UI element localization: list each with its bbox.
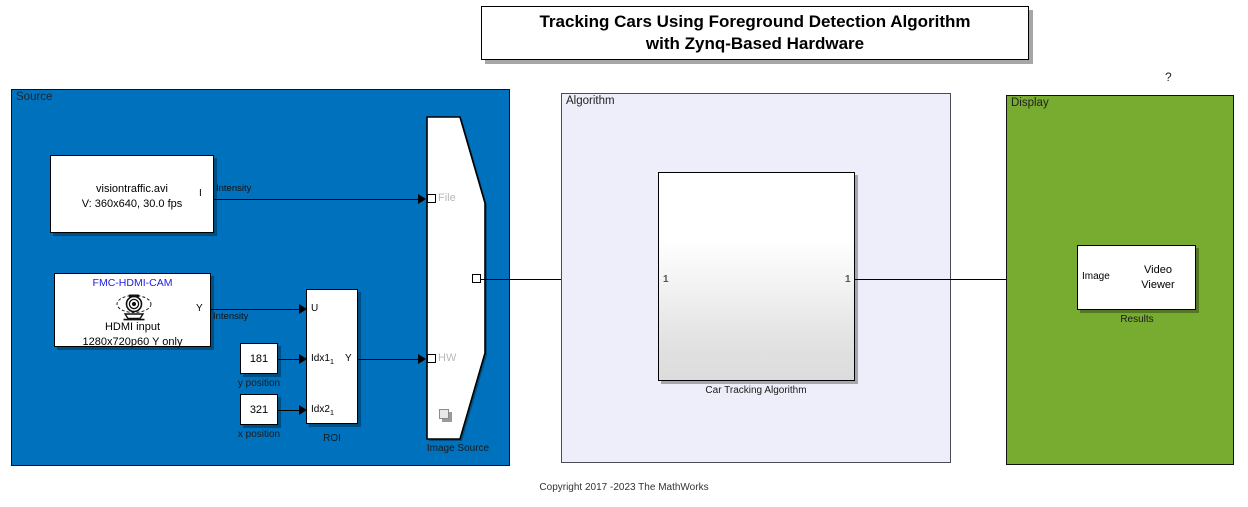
car-tracking-caption: Car Tracking Algorithm	[696, 385, 816, 396]
video-viewer-text: Video Viewer	[1123, 263, 1193, 293]
model-title-line-2: with Zynq-Based Hardware	[539, 33, 970, 55]
fmc-hdmi-cam-title: FMC-HDMI-CAM	[55, 277, 210, 289]
hdmi-cam-line-2: 1280x720p60 Y only	[55, 335, 210, 350]
video-viewer-line-2: Viewer	[1123, 278, 1193, 293]
image-source-variant-block[interactable]	[423, 113, 493, 443]
wire-roi-to-imagesource	[358, 359, 421, 360]
multimedia-file-info: V: 360x640, 30.0 fps	[51, 197, 213, 212]
video-viewer-block[interactable]: Image Video Viewer	[1077, 245, 1196, 310]
image-source-in-port-file[interactable]	[427, 194, 436, 203]
hdmi-cam-out-port-label: Y	[196, 303, 203, 314]
image-source-hw-port-label: HW	[438, 352, 456, 364]
multimedia-file-name: visiontraffic.avi	[51, 182, 213, 197]
help-question-icon[interactable]: ?	[1165, 70, 1172, 84]
video-viewer-in-port-label: Image	[1082, 271, 1110, 282]
fmc-hdmi-cam-block[interactable]: FMC-HDMI-CAM HDMI input 1280x720p60 Y on…	[54, 273, 211, 347]
roi-caption: ROI	[296, 433, 368, 444]
video-viewer-line-1: Video	[1123, 263, 1193, 278]
roi-idx1-text: Idx1	[311, 353, 330, 364]
algorithm-area-label: Algorithm	[566, 95, 615, 107]
car-tracking-algorithm-block[interactable]	[658, 172, 855, 381]
roi-idx2-sub: 1	[330, 408, 334, 417]
webcam-icon	[113, 293, 155, 321]
image-source-in-port-hw[interactable]	[427, 354, 436, 363]
model-title-annotation: Tracking Cars Using Foreground Detection…	[481, 6, 1029, 60]
image-source-file-port-label: File	[438, 192, 456, 204]
car-tracking-in-port-number: 1	[663, 274, 669, 285]
y-position-value: 181	[250, 353, 268, 365]
x-position-caption: x position	[218, 429, 300, 440]
from-multimedia-file-block[interactable]: visiontraffic.avi V: 360x640, 30.0 fps	[50, 155, 214, 233]
source-area-label: Source	[16, 91, 52, 103]
wire-cam-to-roi	[211, 309, 303, 310]
intensity-signal-label-cam: Intensity	[213, 311, 248, 322]
display-area-label: Display	[1011, 97, 1049, 109]
roi-in-port-u-label: U	[311, 303, 318, 314]
copyright-annotation: Copyright 2017 -2023 The MathWorks	[0, 482, 1248, 493]
simulink-model-canvas: Tracking Cars Using Foreground Detection…	[0, 0, 1248, 507]
wire-file-to-imagesource	[214, 199, 421, 200]
hdmi-cam-line-1: HDMI input	[55, 320, 210, 335]
video-viewer-caption: Results	[1092, 314, 1182, 325]
car-tracking-out-port-number: 1	[845, 274, 851, 285]
model-title-line-1: Tracking Cars Using Foreground Detection…	[539, 11, 970, 33]
x-position-value: 321	[250, 404, 268, 416]
roi-idx2-text: Idx2	[311, 404, 330, 415]
intensity-signal-label-file: Intensity	[216, 183, 251, 194]
image-source-polygon	[423, 113, 493, 443]
y-position-caption: y position	[218, 378, 300, 389]
image-source-out-port[interactable]	[472, 274, 481, 283]
roi-idx1-sub: 1	[330, 357, 334, 366]
roi-out-port-label: Y	[345, 353, 352, 364]
roi-in-port-idx1-label: Idx11	[311, 353, 334, 366]
y-position-constant-block[interactable]: 181	[240, 343, 278, 374]
variant-badge-icon	[439, 409, 453, 423]
multimedia-file-out-port-label: I	[199, 188, 202, 199]
x-position-constant-block[interactable]: 321	[240, 394, 278, 425]
image-source-caption: Image Source	[410, 443, 506, 454]
roi-in-port-idx2-label: Idx21	[311, 404, 334, 417]
